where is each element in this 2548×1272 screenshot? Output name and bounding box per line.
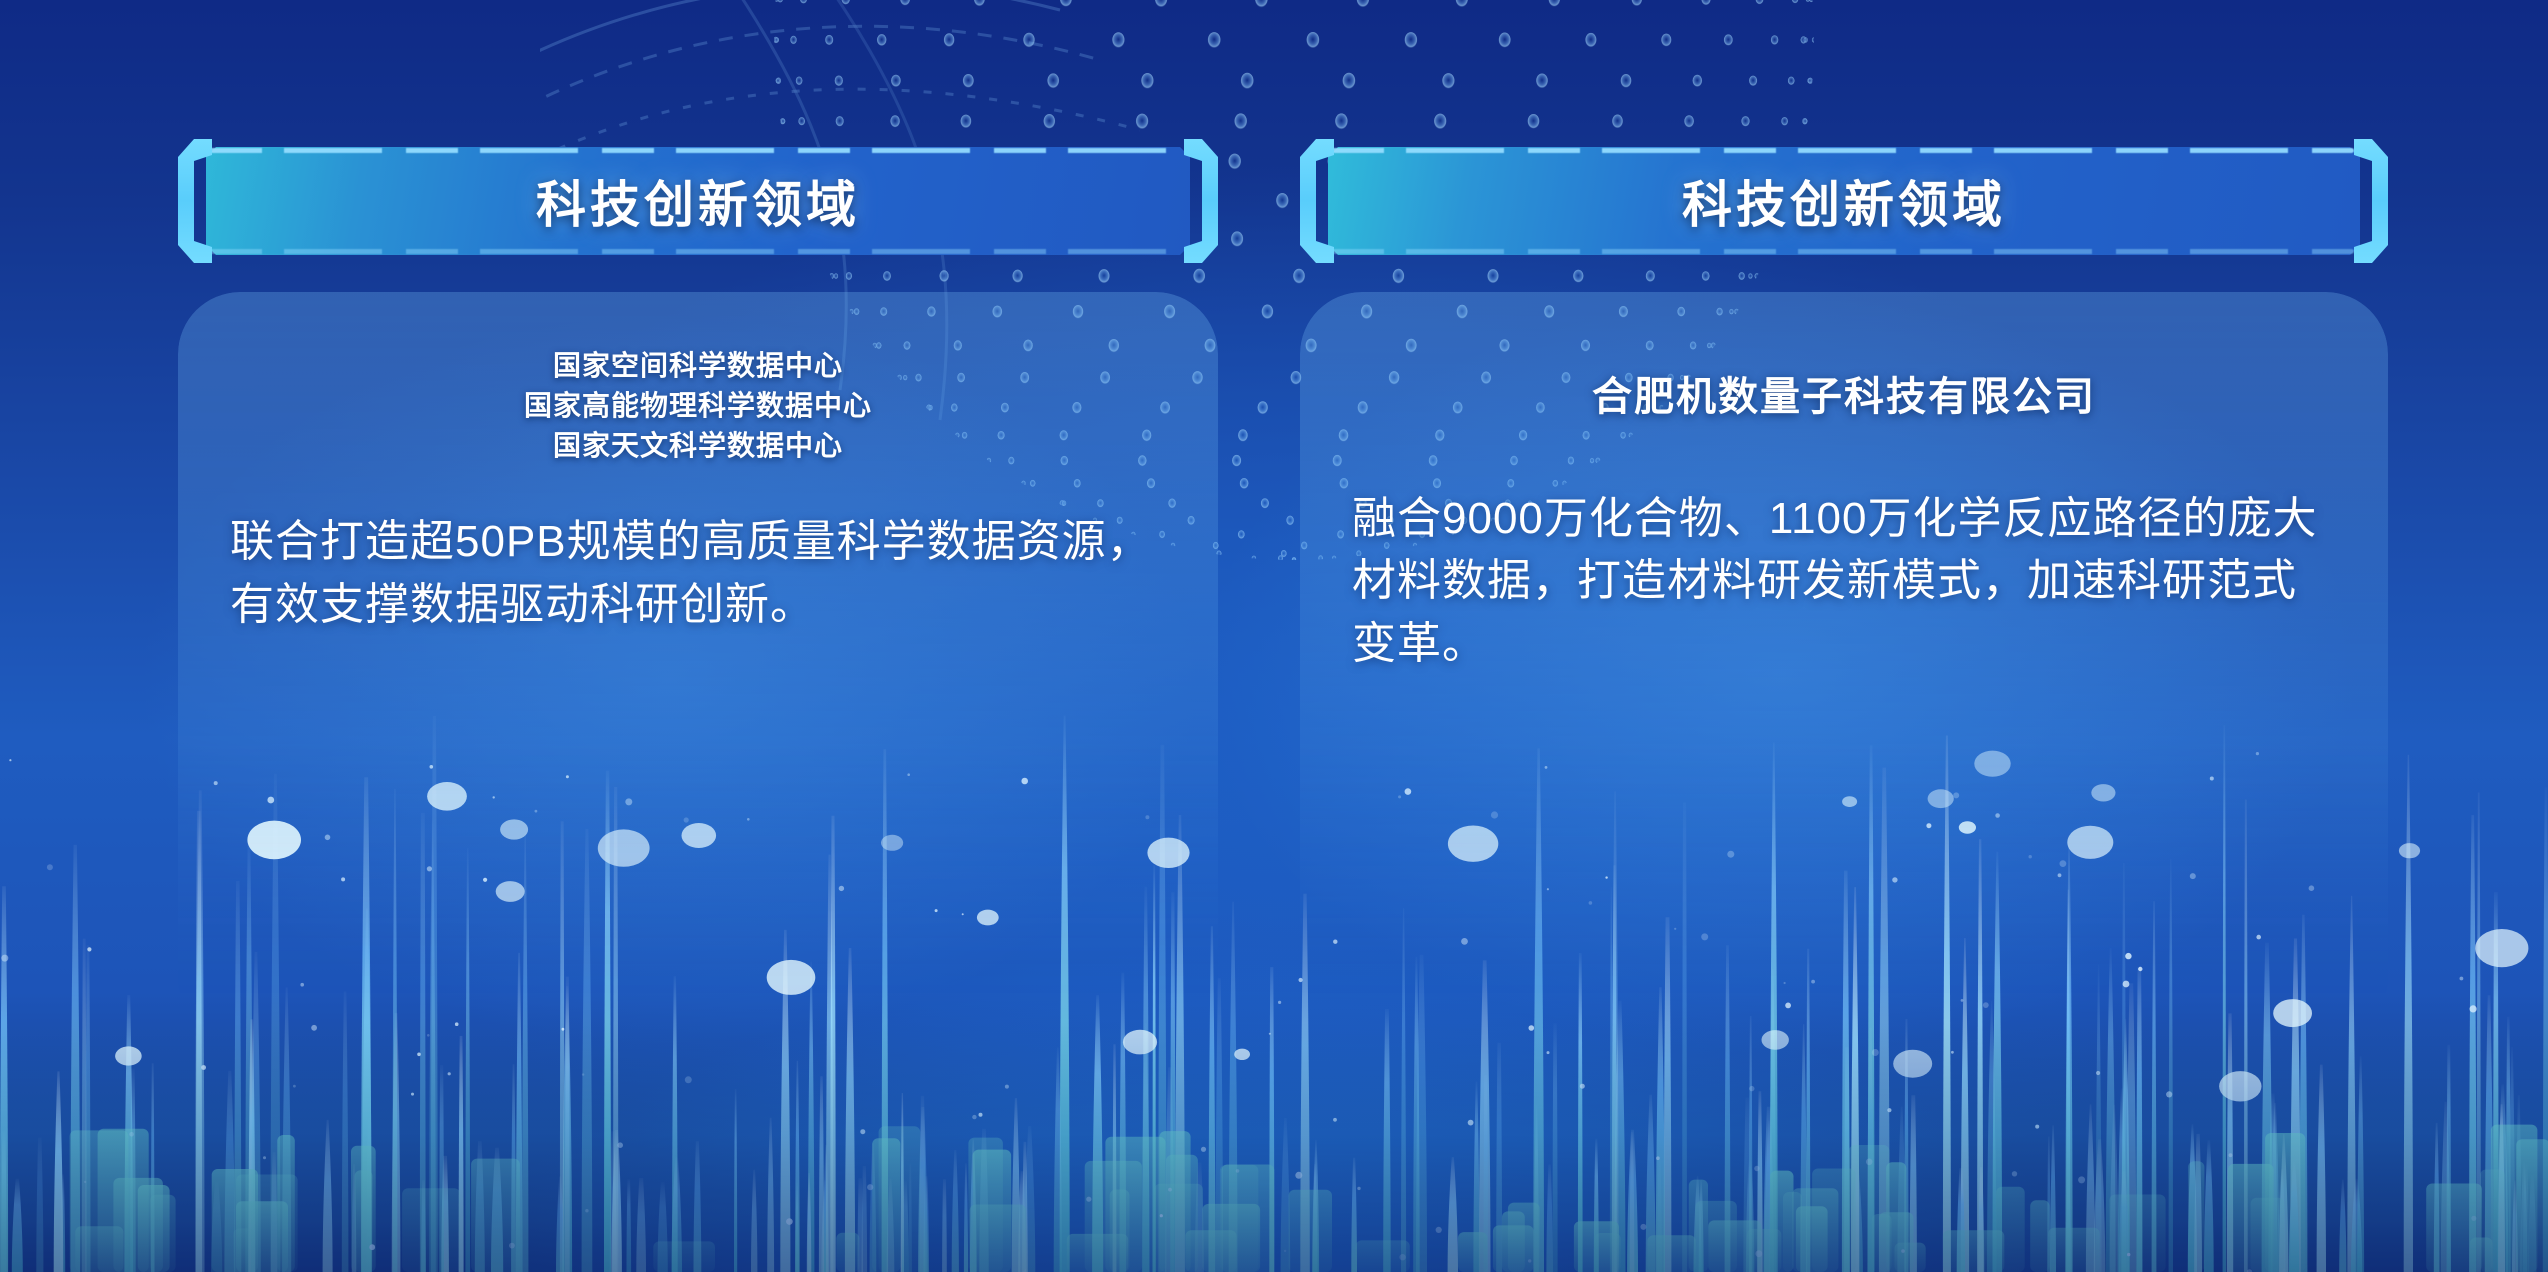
card-left-body: 联合打造超50PB规模的高质量科学数据资源，有效支撑数据驱动科研创新。 <box>230 511 1166 636</box>
banner-title: 科技创新领域 <box>1300 147 2388 255</box>
banner-title: 科技创新领域 <box>178 147 1218 255</box>
card-right-body: 融合9000万化合物、1100万化学反应路径的庞大材料数据，打造材料研发新模式，… <box>1352 488 2336 675</box>
subtitle-line: 国家空间科学数据中心 <box>230 346 1166 386</box>
card-left-subtitles: 国家空间科学数据中心 国家高能物理科学数据中心 国家天文科学数据中心 <box>230 346 1166 465</box>
subtitle-line: 国家天文科学数据中心 <box>230 426 1166 466</box>
banner-right: 科技创新领域 <box>1300 147 2388 255</box>
slide-canvas: 科技创新领域 国家空间科学数据中心 国家高能物理科学数据中心 国家天文科学数据中… <box>0 0 2548 1272</box>
banner-left: 科技创新领域 <box>178 147 1218 255</box>
card-left: 国家空间科学数据中心 国家高能物理科学数据中心 国家天文科学数据中心 联合打造超… <box>178 292 1218 1016</box>
subtitle-line: 国家高能物理科学数据中心 <box>230 386 1166 426</box>
card-right-heading: 合肥机数量子科技有限公司 <box>1352 346 2336 422</box>
card-right: 合肥机数量子科技有限公司 融合9000万化合物、1100万化学反应路径的庞大材料… <box>1300 292 2388 1016</box>
panel-left: 科技创新领域 国家空间科学数据中心 国家高能物理科学数据中心 国家天文科学数据中… <box>178 0 1218 1016</box>
bottom-haze <box>0 1022 2548 1272</box>
panel-right: 科技创新领域 合肥机数量子科技有限公司 融合9000万化合物、1100万化学反应… <box>1300 0 2388 1016</box>
